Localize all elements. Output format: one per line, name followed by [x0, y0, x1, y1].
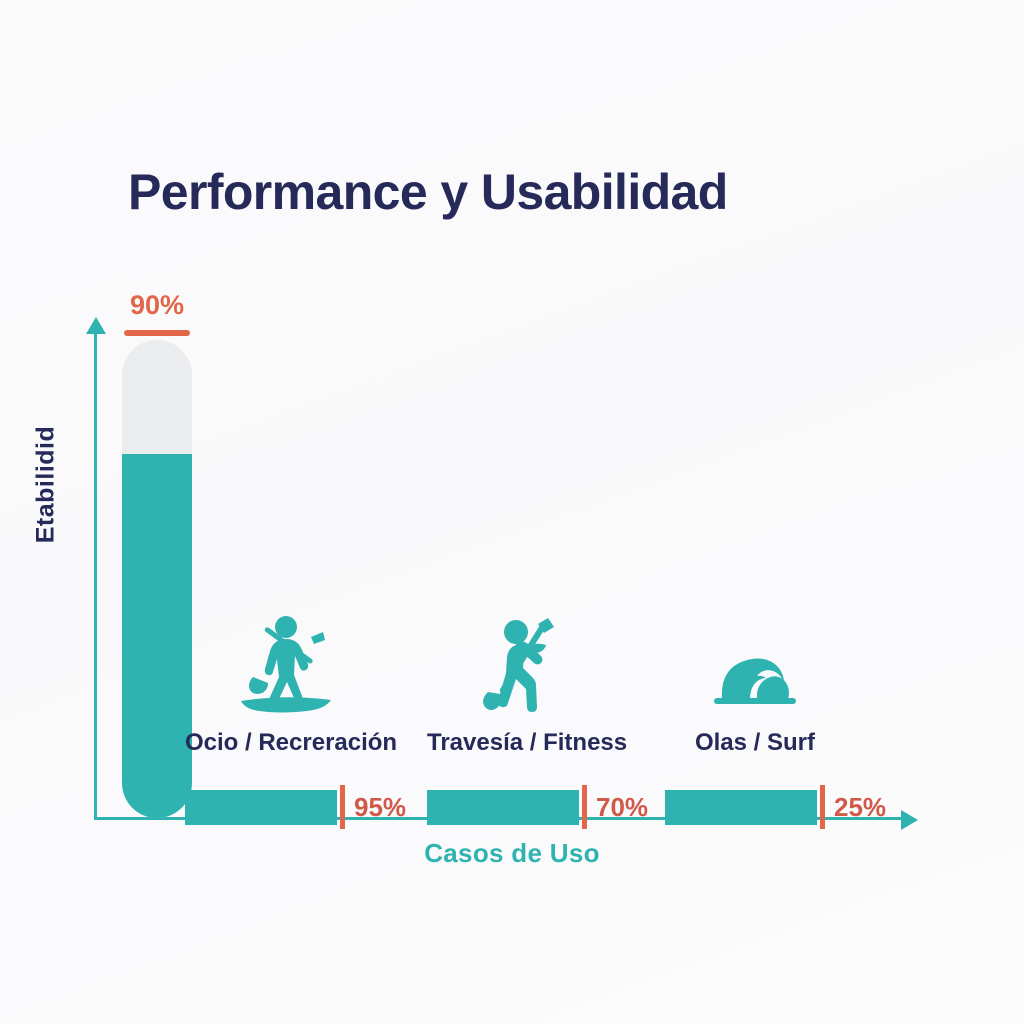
- bar-end-tick: [340, 785, 345, 829]
- bar-fill: [427, 790, 579, 825]
- category-label: Olas / Surf: [665, 729, 845, 757]
- category-group-olas: Olas / Surf 25%: [665, 615, 845, 757]
- chart-canvas: Performance y Usabilidad Etabilidid Caso…: [0, 0, 1024, 1024]
- wave-icon: [665, 615, 845, 715]
- paddler-icon: [427, 615, 627, 715]
- category-label: Ocio / Recreración: [185, 729, 385, 757]
- paddleboarder-icon: [185, 615, 385, 715]
- bar-value-label: 70%: [596, 792, 648, 823]
- y-axis-line: [94, 330, 97, 820]
- page-title: Performance y Usabilidad: [128, 163, 728, 221]
- bar-value-label: 95%: [354, 792, 406, 823]
- bar-row-olas: 25%: [665, 785, 886, 829]
- bar-fill: [665, 790, 817, 825]
- gauge-fill: [122, 454, 192, 818]
- y-axis-title: Etabilidid: [32, 395, 61, 575]
- gauge-value-label: 90%: [122, 290, 192, 321]
- bar-row-ocio: 95%: [185, 785, 406, 829]
- bar-value-label: 25%: [834, 792, 886, 823]
- category-group-ocio: Ocio / Recreración 95%: [185, 615, 385, 757]
- y-axis-arrow-icon: [86, 317, 106, 334]
- x-axis-title: Casos de Uso: [0, 838, 1024, 869]
- bar-end-tick: [582, 785, 587, 829]
- x-axis-arrow-icon: [901, 810, 918, 830]
- category-group-travesia: Travesía / Fitness 70%: [427, 615, 627, 757]
- bar-end-tick: [820, 785, 825, 829]
- bar-row-travesia: 70%: [427, 785, 648, 829]
- gauge-cap-line: [124, 330, 190, 336]
- bar-fill: [185, 790, 337, 825]
- stability-gauge: [122, 340, 192, 818]
- category-label: Travesía / Fitness: [427, 729, 627, 757]
